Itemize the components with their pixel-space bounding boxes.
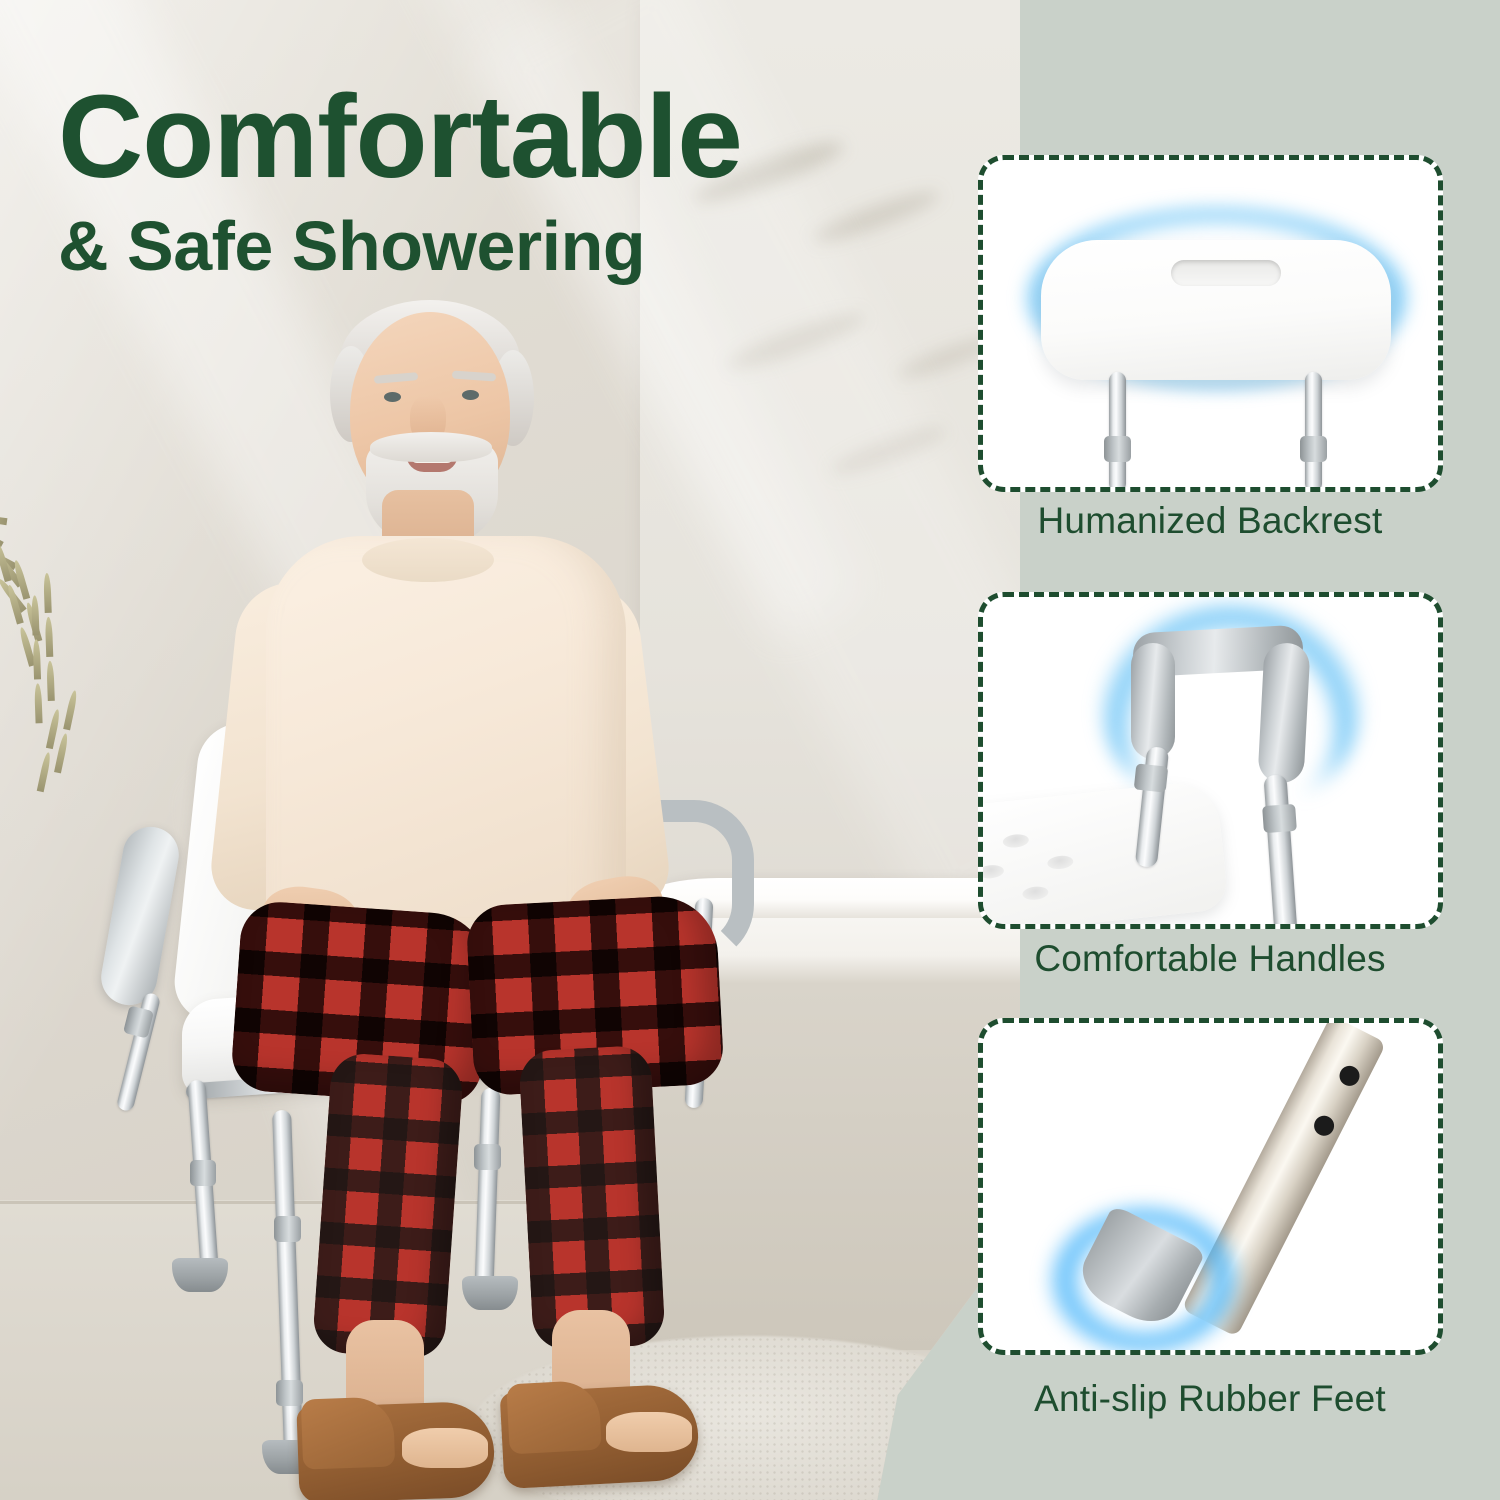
drain-hole [1002, 833, 1029, 849]
backrest-handle-slot [1171, 260, 1281, 286]
left-toes [402, 1428, 488, 1468]
right-shin [518, 1045, 666, 1351]
moustache [370, 432, 492, 462]
eye [462, 390, 479, 400]
headline: Comfortable & Safe Showering [58, 78, 742, 284]
headline-line-1: Comfortable [58, 78, 742, 196]
feature-label-handles: Comfortable Handles [960, 938, 1460, 980]
sweater-collar [362, 538, 494, 582]
feature-label-backrest: Humanized Backrest [960, 500, 1460, 542]
left-shin [312, 1052, 465, 1360]
right-toes [606, 1412, 692, 1452]
adjustment-hole [1311, 1112, 1338, 1139]
backrest-post [1109, 372, 1126, 492]
feature-panel: Humanized Backrest Comfortable Handles [960, 0, 1500, 1500]
eye [384, 392, 401, 402]
left-slipper-strap [301, 1396, 395, 1469]
feature-card-feet[interactable] [978, 1018, 1443, 1355]
handle-grip-right [1257, 642, 1310, 784]
post-collar [1300, 436, 1327, 462]
feature-card-handles[interactable] [978, 592, 1443, 929]
post-collar [1134, 763, 1169, 792]
drain-hole [1047, 855, 1074, 871]
adjustment-hole [1336, 1062, 1363, 1089]
post-collar [1262, 804, 1297, 833]
drain-hole [978, 864, 1005, 880]
chair-seat [978, 779, 1229, 929]
post-collar [1104, 436, 1131, 462]
handle-grip-left [1131, 643, 1175, 759]
seated-senior-man [170, 300, 790, 1500]
drain-hole [1022, 885, 1049, 901]
feature-label-feet: Anti-slip Rubber Feet [960, 1378, 1460, 1420]
feature-card-backrest[interactable] [978, 155, 1443, 492]
product-feature-banner: Comfortable & Safe Showering Humanized B… [0, 0, 1500, 1500]
headline-line-2: & Safe Showering [58, 210, 742, 284]
backrest-post [1305, 372, 1322, 492]
